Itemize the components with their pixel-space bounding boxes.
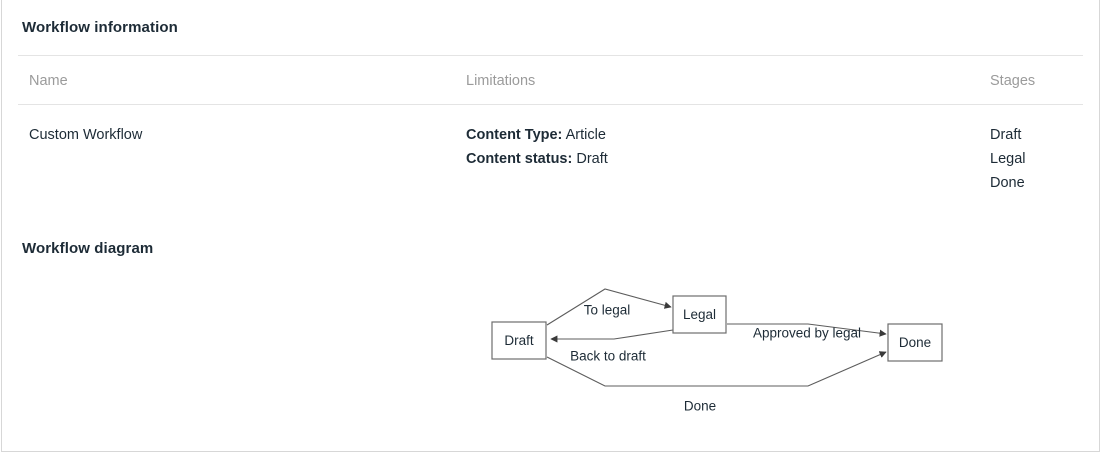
column-header-stages: Stages xyxy=(990,73,1035,89)
edge-label-to-legal: To legal xyxy=(584,303,631,318)
limitation-content-status-label: Content status: xyxy=(466,151,572,167)
table-header-divider xyxy=(18,104,1083,105)
edge-approved-by-legal xyxy=(727,324,886,334)
edge-done xyxy=(547,352,886,386)
stage-item: Draft xyxy=(990,123,1025,147)
stage-item: Legal xyxy=(990,147,1025,171)
column-header-limitations: Limitations xyxy=(466,73,535,89)
cell-limitations: Content Type: Article Content status: Dr… xyxy=(466,123,608,171)
edge-back-to-draft xyxy=(551,330,673,339)
node-done[interactable]: Done xyxy=(888,324,942,361)
limitation-content-status: Content status: Draft xyxy=(466,147,608,171)
limitation-content-status-value: Draft xyxy=(576,151,607,167)
node-legal-label: Legal xyxy=(683,307,716,322)
workflow-card: Workflow information Name Limitations St… xyxy=(1,0,1100,452)
edge-label-back-to-draft: Back to draft xyxy=(570,349,646,364)
workflow-diagram: Draft Legal Done To legal Back to draft … xyxy=(2,0,1101,452)
cell-stages: Draft Legal Done xyxy=(990,123,1025,195)
cell-workflow-name: Custom Workflow xyxy=(29,123,142,147)
node-done-label: Done xyxy=(899,335,931,350)
limitation-content-type-label: Content Type: xyxy=(466,127,562,143)
limitation-content-type-value: Article xyxy=(566,127,606,143)
workflow-information-title: Workflow information xyxy=(22,19,178,36)
limitation-content-type: Content Type: Article xyxy=(466,123,608,147)
edge-to-legal xyxy=(547,289,671,325)
edge-label-done: Done xyxy=(684,399,716,414)
edge-label-approved-by-legal: Approved by legal xyxy=(753,326,861,341)
workflow-diagram-title: Workflow diagram xyxy=(22,240,153,257)
node-draft[interactable]: Draft xyxy=(492,322,546,359)
column-header-name: Name xyxy=(29,73,68,89)
header-divider xyxy=(18,55,1083,56)
node-draft-label: Draft xyxy=(504,333,534,348)
node-legal[interactable]: Legal xyxy=(673,296,726,333)
stage-item: Done xyxy=(990,171,1025,195)
